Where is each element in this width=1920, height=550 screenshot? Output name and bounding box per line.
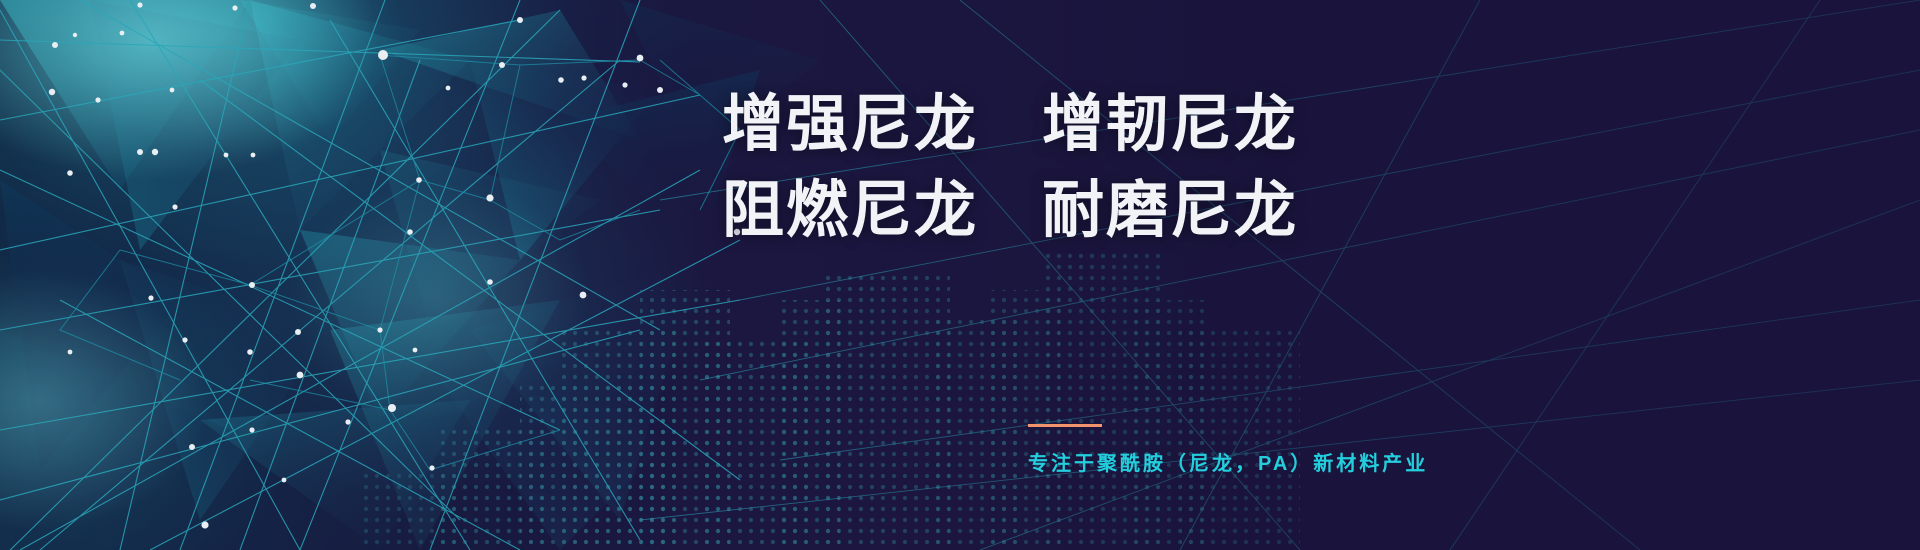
tagline-text: 专注于聚酰胺（尼龙，PA）新材料产业 bbox=[1028, 447, 1548, 476]
tagline-block: 专注于聚酰胺（尼龙，PA）新材料产业 bbox=[1028, 424, 1548, 476]
headline-line-2: 阻燃尼龙 耐磨尼龙 bbox=[722, 168, 1622, 254]
headline-block: 增强尼龙 增韧尼龙 阻燃尼龙 耐磨尼龙 bbox=[722, 82, 1622, 254]
divider-rule bbox=[1028, 424, 1102, 427]
headline-line-1: 增强尼龙 增韧尼龙 bbox=[722, 82, 1622, 168]
hero-banner: 增强尼龙 增韧尼龙 阻燃尼龙 耐磨尼龙 专注于聚酰胺（尼龙，PA）新材料产业 bbox=[0, 0, 1920, 550]
